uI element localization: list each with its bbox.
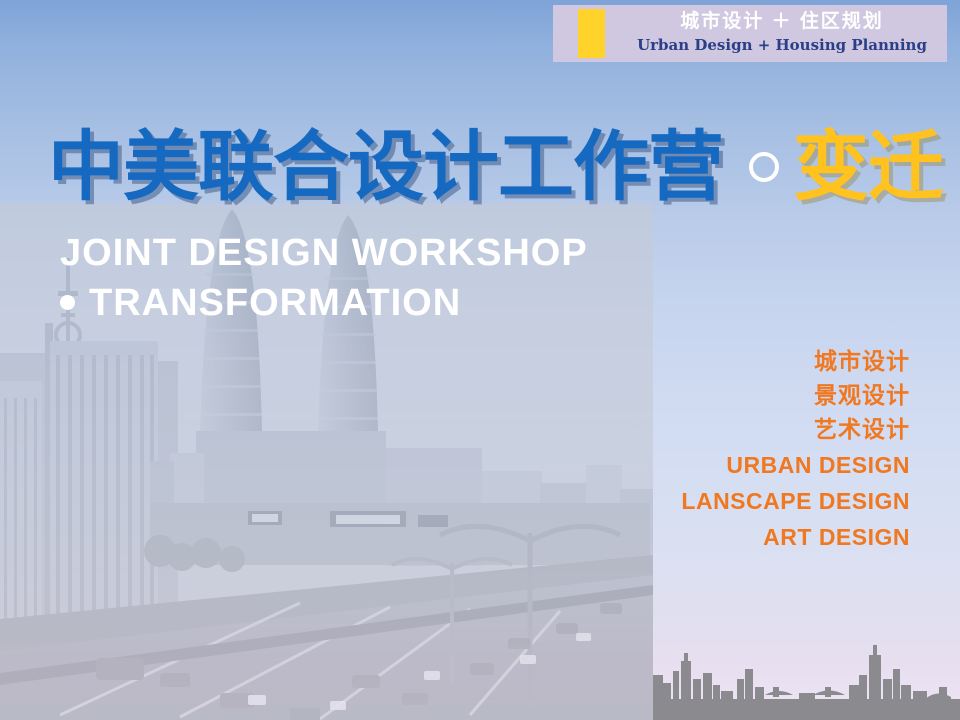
title-row: 中美联合设计工作营 变迁 [48, 124, 928, 210]
list-item: 景观设计 [681, 379, 910, 413]
title-highlight: 变迁 [793, 124, 943, 210]
list-item: URBAN DESIGN [681, 447, 910, 483]
bullet-dot-icon [60, 295, 75, 310]
list-item: 城市设计 [681, 345, 910, 379]
presentation-slide: 城市设计 ＋ 住区规划 Urban Design + Housing Plann… [0, 0, 960, 720]
list-item: 艺术设计 [681, 413, 910, 447]
banner-english-title: Urban Design + Housing Planning [623, 34, 941, 56]
list-item: ART DESIGN [681, 519, 910, 555]
subtitle-line-2-wrapper: TRANSFORMATION [60, 282, 461, 325]
skyline-silhouette [653, 635, 960, 720]
page-title: 中美联合设计工作营 [48, 124, 723, 210]
list-item: LANSCAPE DESIGN [681, 483, 910, 519]
banner-accent-block [578, 9, 605, 58]
circle-outline-icon [749, 152, 779, 182]
subtitle-line-1: JOINT DESIGN WORKSHOP [60, 232, 588, 275]
banner-chinese-title: 城市设计 ＋ 住区规划 [623, 9, 941, 34]
cityscape-photo [0, 203, 653, 720]
subtitle-line-2: TRANSFORMATION [89, 282, 461, 324]
disciplines-list: 城市设计 景观设计 艺术设计 URBAN DESIGN LANSCAPE DES… [681, 345, 910, 555]
header-banner: 城市设计 ＋ 住区规划 Urban Design + Housing Plann… [553, 5, 947, 62]
